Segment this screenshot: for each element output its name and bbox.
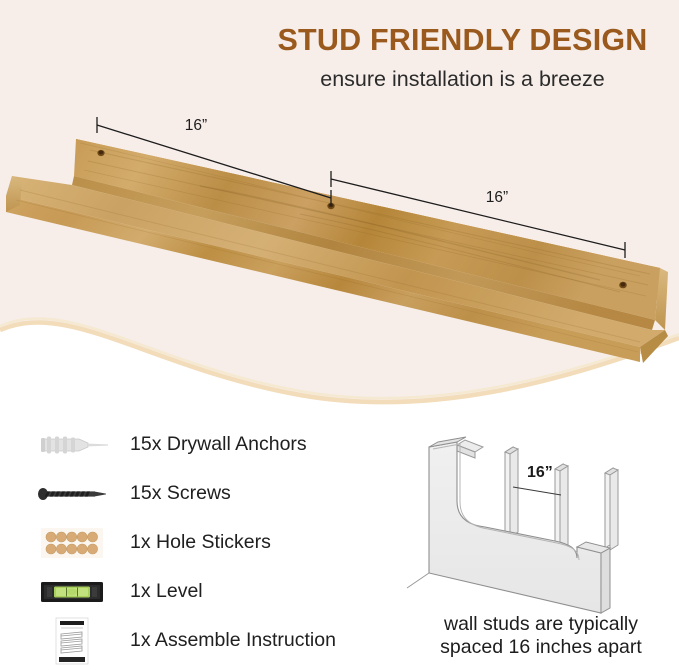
list-item: 1x Hole Stickers bbox=[18, 518, 388, 567]
stud-dimension-label: 16” bbox=[527, 464, 553, 481]
wall-stud bbox=[605, 468, 618, 550]
product-infographic: 16” 16” STUD FRIENDLY DESIGN ensure inst… bbox=[0, 0, 679, 670]
screw-icon bbox=[18, 469, 126, 518]
page-subtitle: ensure installation is a breeze bbox=[255, 68, 670, 92]
wall-stud-diagram: 16” wall studs are typically spaced 16 i… bbox=[405, 425, 677, 670]
wall-stud bbox=[555, 464, 568, 554]
list-item-label: 15x Screws bbox=[126, 484, 231, 504]
stud-caption-line-2: spaced 16 inches apart bbox=[405, 636, 677, 659]
list-item: 1x Level bbox=[18, 567, 388, 616]
stud-diagram-caption: wall studs are typically spaced 16 inche… bbox=[405, 613, 677, 658]
list-item-label: 1x Hole Stickers bbox=[126, 533, 271, 553]
stud-caption-line-1: wall studs are typically bbox=[405, 613, 677, 636]
stud-dimension-line bbox=[513, 487, 561, 495]
page-title: STUD FRIENDLY DESIGN bbox=[255, 24, 670, 56]
list-item: 15x Drywall Anchors bbox=[18, 420, 388, 469]
wall-stud bbox=[457, 440, 483, 458]
list-item: 1x Assemble Instruction bbox=[18, 616, 388, 665]
spirit-level-icon bbox=[18, 567, 126, 616]
instruction-booklet-icon bbox=[18, 616, 126, 665]
heading-block: STUD FRIENDLY DESIGN ensure installation… bbox=[255, 24, 670, 92]
list-item-label: 1x Level bbox=[126, 582, 203, 602]
drywall-anchor-icon bbox=[18, 420, 126, 469]
list-item-label: 1x Assemble Instruction bbox=[126, 631, 336, 651]
parts-list: 15x Drywall Anchors bbox=[18, 420, 388, 665]
wall-stud-shape: 16” bbox=[405, 425, 677, 615]
wall-stud bbox=[505, 447, 518, 537]
hole-stickers-icon bbox=[18, 518, 126, 567]
list-item-label: 15x Drywall Anchors bbox=[126, 435, 307, 455]
list-item: 15x Screws bbox=[18, 469, 388, 518]
